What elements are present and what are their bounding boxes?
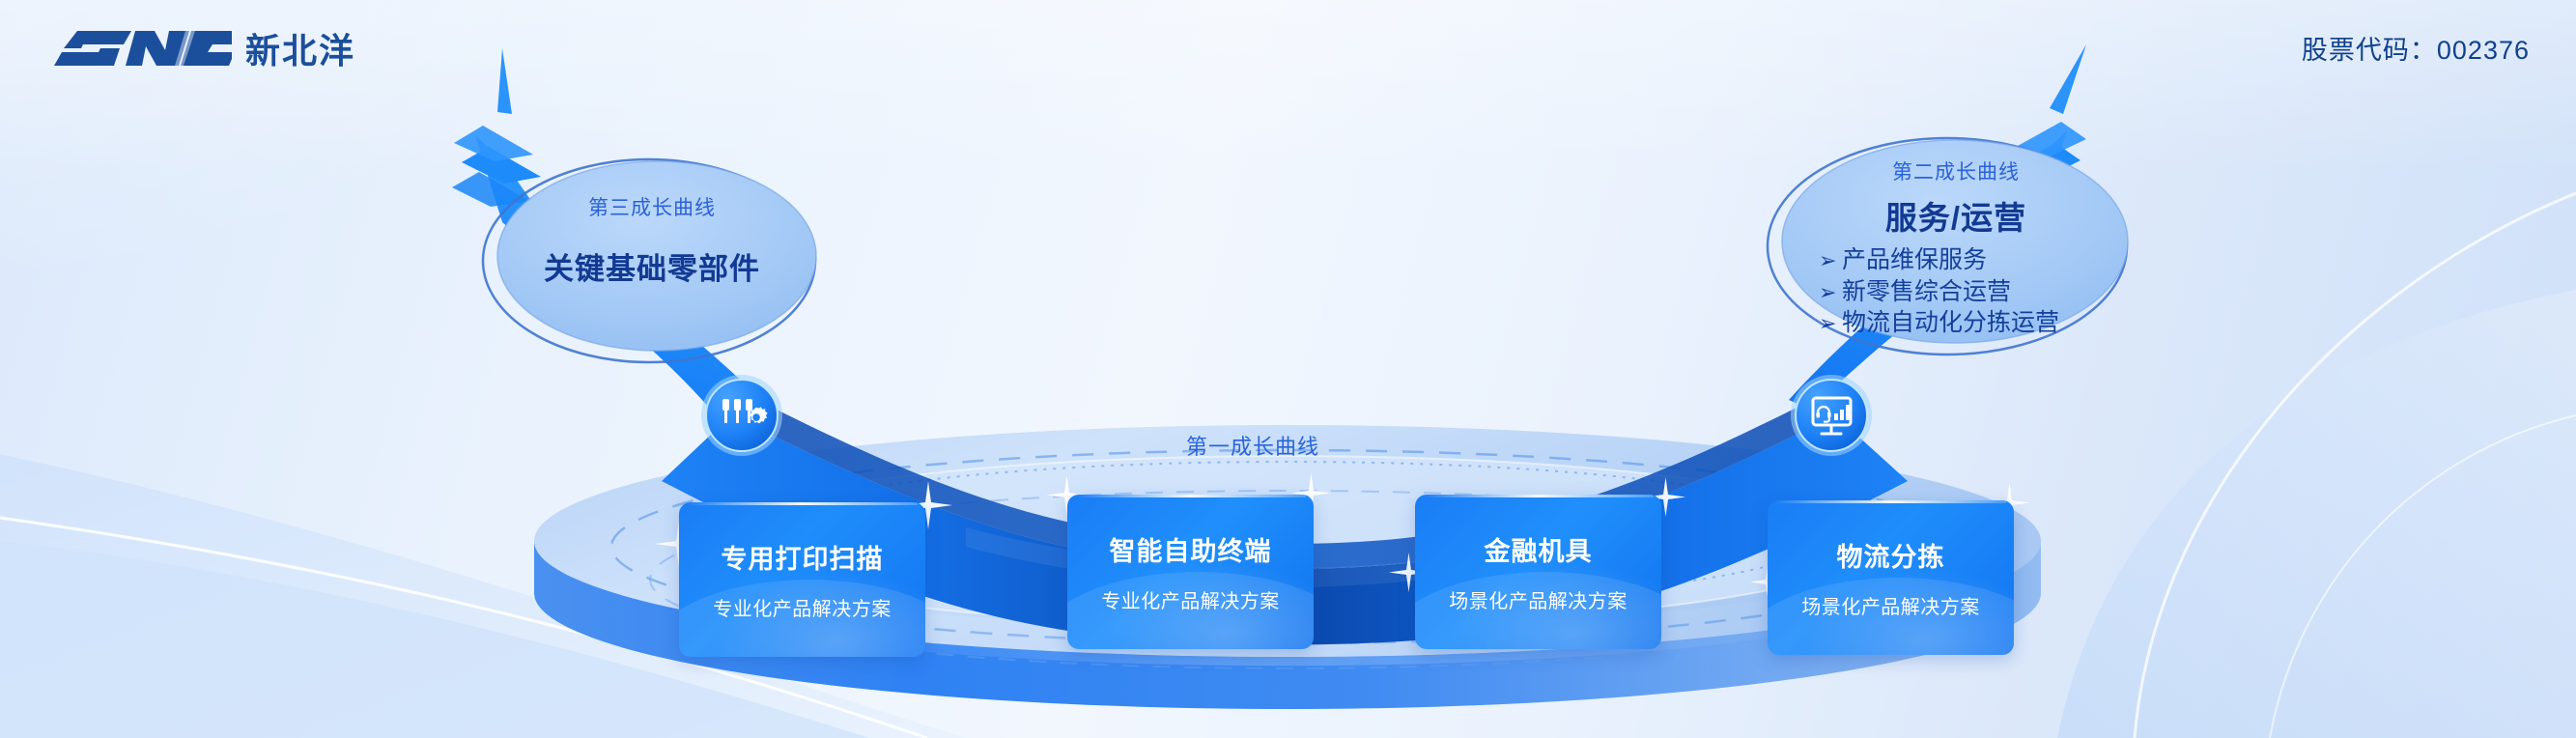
product-card[interactable]: 专用打印扫描 专业化产品解决方案 — [679, 502, 925, 657]
card-title: 专用打印扫描 — [722, 538, 884, 576]
card-top-highlight — [687, 502, 918, 505]
product-card[interactable]: 智能自助终端 专业化产品解决方案 — [1067, 495, 1314, 649]
infographic-stage: 新北洋 股票代码：002376 — [0, 0, 2576, 738]
card-top-highlight — [1775, 500, 2006, 503]
card-top-highlight — [1075, 495, 1306, 497]
card-title: 智能自助终端 — [1110, 530, 1272, 568]
bubble-second-curve-content: 第二成长曲线 服务/运营 ➢产品维保服务 ➢新零售综合运营 ➢物流自动化分拣运营 — [1782, 145, 2130, 355]
product-card[interactable]: 金融机具 场景化产品解决方案 — [1415, 495, 1661, 649]
bullet-text: 新零售综合运营 — [1842, 278, 2011, 305]
product-card[interactable]: 物流分拣 场景化产品解决方案 — [1768, 500, 2014, 655]
node-icon-right-circle[interactable] — [1791, 375, 1872, 456]
card-description: 专业化产品解决方案 — [713, 593, 892, 621]
card-top-highlight — [1423, 495, 1654, 497]
card-description: 场景化产品解决方案 — [1449, 585, 1628, 613]
card-description: 场景化产品解决方案 — [1801, 591, 1980, 619]
card-title: 物流分拣 — [1837, 536, 1945, 574]
second-curve-bullet-list: ➢产品维保服务 ➢新零售综合运营 ➢物流自动化分拣运营 — [1782, 244, 2130, 339]
first-curve-label: 第一成长曲线 — [1186, 430, 1319, 461]
list-item: ➢物流自动化分拣运营 — [1819, 307, 2130, 339]
bullet-arrow-icon: ➢ — [1819, 310, 1842, 338]
list-item: ➢新零售综合运营 — [1819, 276, 2130, 308]
third-curve-title: 关键基础零部件 — [483, 244, 821, 288]
card-description: 专业化产品解决方案 — [1101, 585, 1280, 613]
third-curve-label: 第三成长曲线 — [483, 192, 821, 221]
second-curve-label: 第二成长曲线 — [1782, 156, 2130, 185]
bullet-text: 物流自动化分拣运营 — [1842, 309, 2059, 336]
bullet-arrow-icon: ➢ — [1819, 279, 1842, 307]
bullet-arrow-icon: ➢ — [1819, 247, 1842, 275]
bullet-text: 产品维保服务 — [1842, 246, 1987, 273]
list-item: ➢产品维保服务 — [1819, 244, 2130, 276]
node-icon-left-circle[interactable] — [701, 375, 782, 456]
second-curve-title: 服务/运营 — [1782, 192, 2130, 239]
card-title: 金融机具 — [1485, 530, 1593, 568]
bubble-third-curve-content: 第三成长曲线 关键基础零部件 — [483, 169, 821, 288]
